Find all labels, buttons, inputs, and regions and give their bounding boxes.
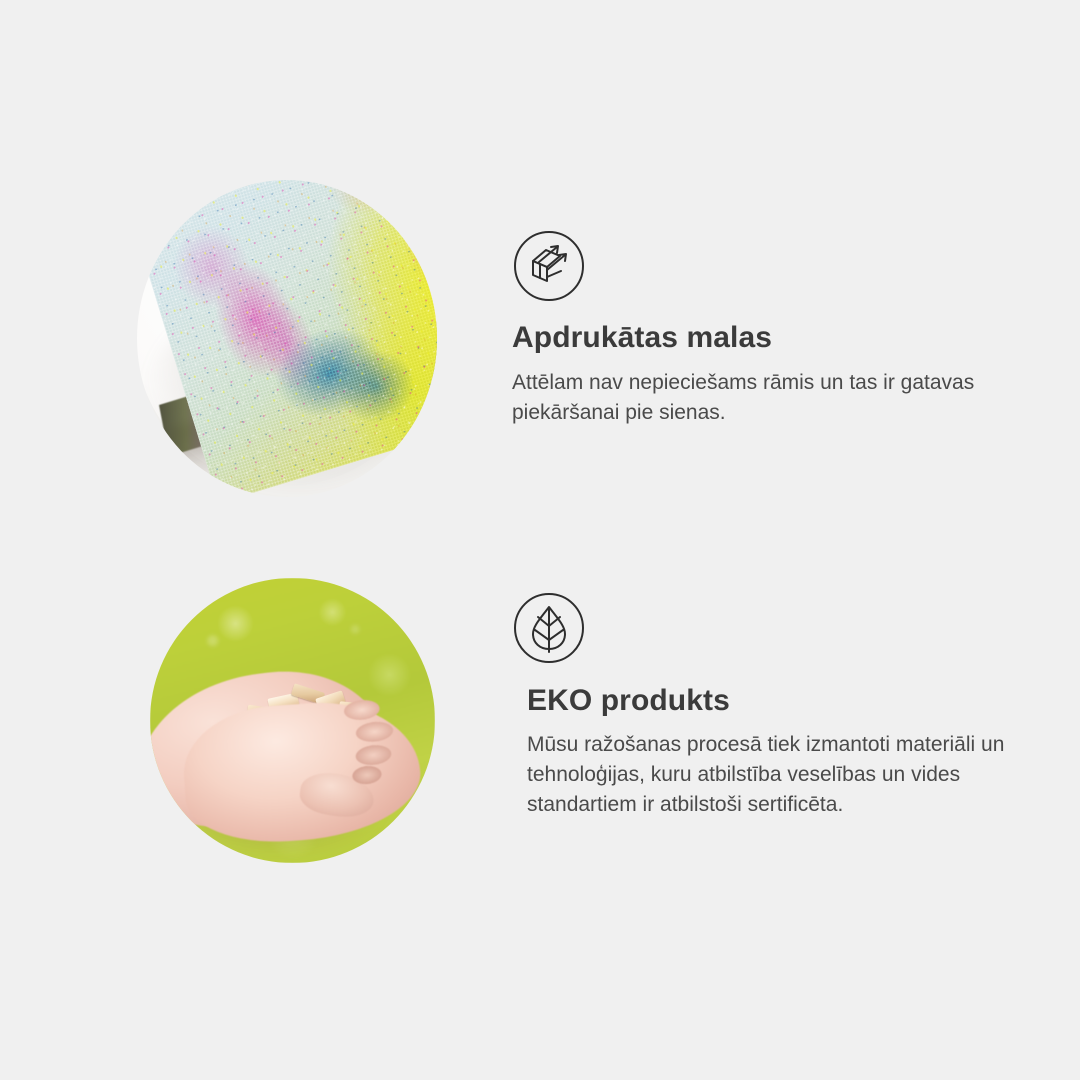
printed-edges-icon <box>513 230 585 302</box>
leaf-icon <box>513 592 585 664</box>
fingers <box>341 686 435 790</box>
feature-description-printed-edges: Attēlam nav nepieciešams rāmis un tas ir… <box>512 368 1012 428</box>
feature-description-eco: Mūsu ražošanas procesā tiek izmantoti ma… <box>527 730 1027 819</box>
feature-highlights-page: Apdrukātas malas Attēlam nav nepieciešam… <box>0 0 1080 1080</box>
feature-title-eco: EKO produkts <box>527 686 730 716</box>
canvas-print-corner-photo <box>137 180 437 497</box>
hands-holding-wood-chips-photo <box>150 578 435 863</box>
canvas-photo-scene <box>137 180 437 497</box>
feature-title-printed-edges: Apdrukātas malas <box>512 323 772 353</box>
